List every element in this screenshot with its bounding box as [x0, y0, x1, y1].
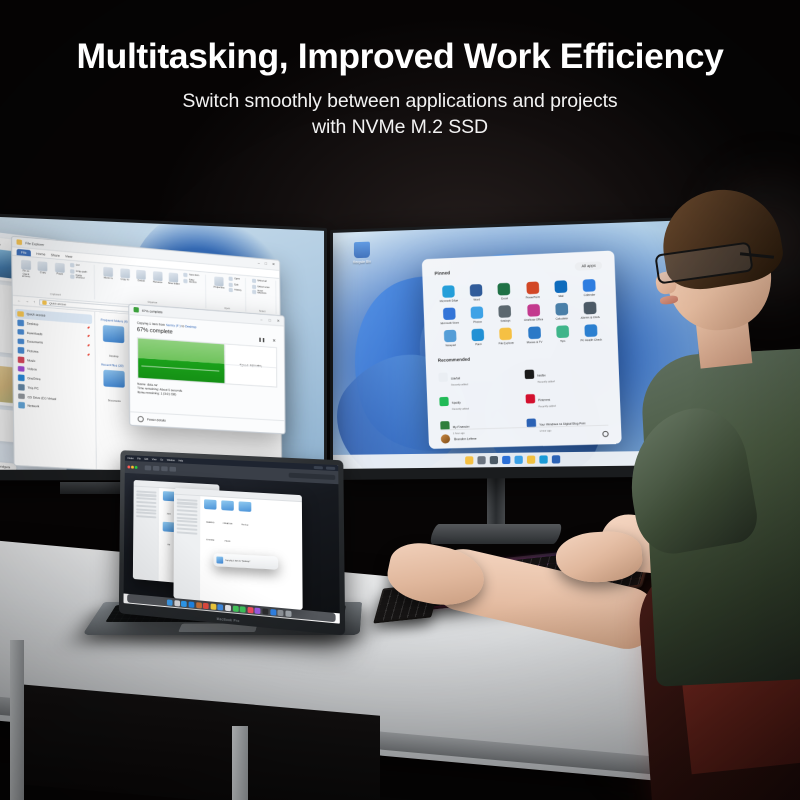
desktop-icon-recycle-bin[interactable]: Recycle Bin — [345, 241, 379, 264]
recommended-text: SpotifyRecently added — [451, 390, 469, 412]
finder-folder[interactable]: Backup — [238, 501, 253, 548]
recommended-text: PinterestRecently added — [538, 387, 556, 409]
recommended-title: Spotify — [452, 401, 461, 405]
macbook-screen: FinderFileEditViewGoWindowHelp — [123, 455, 339, 624]
task-view-icon[interactable] — [490, 456, 498, 464]
copy-destination: Desktop — [185, 324, 196, 329]
ribbon-button-properties[interactable]: Properties — [212, 275, 225, 290]
ribbon-group-label: Clipboard — [50, 294, 61, 297]
maximize-icon[interactable]: □ — [265, 262, 267, 266]
fewer-details-label: Fewer details — [147, 417, 166, 422]
app-icon — [444, 330, 457, 343]
recommended-subtitle: Recently added — [538, 406, 555, 409]
pinned-apps-grid: Microsoft EdgeWordExcelPowerPointMailCal… — [435, 277, 605, 350]
ribbon-small-icon — [229, 282, 233, 286]
sidebar-item-label: Music — [27, 358, 35, 363]
menu-file[interactable]: File — [137, 457, 141, 460]
ribbon-small-icon — [183, 273, 187, 277]
pinned-app-label: Word — [463, 298, 490, 302]
pinned-app-label: Microsoft Edge — [436, 299, 463, 303]
app-icon — [472, 329, 485, 342]
pinned-app-label: PC Health Check — [577, 339, 605, 343]
start-menu[interactable]: Pinned All apps Microsoft EdgeWordExcelP… — [422, 250, 622, 449]
monitor-right-neck — [487, 478, 505, 526]
explorer-tab-share[interactable]: Share — [51, 253, 60, 259]
ribbon-button-label: New folder — [167, 283, 180, 287]
view-icon[interactable] — [145, 465, 151, 470]
close-icon[interactable]: ✕ — [272, 263, 275, 267]
pin-icon[interactable]: 📌 — [87, 326, 91, 329]
calendar-icon[interactable] — [203, 602, 209, 608]
up-icon[interactable]: ↑ — [33, 300, 35, 304]
ribbon-menu-item-open[interactable]: Open — [229, 277, 242, 282]
safari-icon[interactable] — [181, 600, 187, 606]
copy-progress-bars — [138, 338, 225, 383]
pinned-app-label: Calculator — [548, 317, 575, 321]
recommended-icon — [438, 373, 448, 382]
finder-folder[interactable]: SHARED SYSTEM — [203, 499, 217, 546]
finder-folder[interactable]: CREATIVE FILES — [220, 500, 235, 547]
copy-speed-graph: Speed: 590 MB/s — [137, 337, 277, 387]
status-item[interactable] — [326, 466, 335, 469]
sidebar-item[interactable] — [136, 497, 156, 500]
ribbon-small-icon — [70, 274, 74, 279]
subtitle-line-1: Switch smoothly between applications and… — [182, 90, 617, 112]
recommended-item[interactable]: StarfallRecently added — [438, 364, 519, 388]
speed-trace-line — [142, 365, 220, 371]
app-icon — [556, 326, 569, 339]
pinned-app-microsoft-edge[interactable]: Microsoft Edge — [435, 283, 462, 305]
recommended-text: NetflixRecently added — [537, 363, 555, 385]
desk-leg-center — [232, 726, 248, 800]
pinned-app-label: Paint — [465, 343, 492, 347]
ribbon-button-move-to[interactable]: Move to — [101, 266, 115, 281]
contacts-icon[interactable] — [196, 602, 202, 608]
ribbon-button-rename[interactable]: Rename — [151, 270, 164, 285]
finder-icon[interactable] — [167, 599, 173, 605]
app-icon — [583, 279, 596, 292]
breadcrumb-text: Quick access — [49, 302, 66, 306]
person — [612, 196, 800, 800]
sidebar-item[interactable] — [177, 527, 198, 531]
ribbon-small-icon — [70, 263, 74, 268]
app-icon — [442, 285, 455, 298]
recommended-title: Netflix — [537, 374, 546, 378]
trash-icon[interactable] — [285, 610, 291, 617]
ribbon-group-open: PropertiesOpenEditHistoryOpen — [209, 275, 246, 312]
pinned-app-movies-tv[interactable]: Movies & TV — [520, 324, 548, 347]
folder-icon — [204, 499, 216, 509]
ribbon-group-select: Select allSelect noneInvert selectionSel… — [249, 278, 277, 314]
subtitle-line-2: with NVMe M.2 SSD — [312, 116, 488, 138]
ribbon-items: PropertiesOpenEditHistory — [212, 275, 241, 293]
ribbon-group-clipboard: Pin to Quick accessCopyPasteCutCopy path… — [16, 258, 96, 299]
pinned-app-photos[interactable]: Photos — [463, 304, 491, 326]
copy-dialog-controls[interactable]: ❚❚ ✕ — [258, 337, 276, 343]
pinned-app-label: Calendar — [576, 293, 604, 297]
sidebar-item-icon — [17, 329, 23, 335]
ribbon-menu-label: Easy access — [189, 279, 202, 284]
sidebar-item-label: Documents — [27, 340, 43, 345]
explorer-tab-view[interactable]: View — [65, 254, 72, 260]
sidebar-item[interactable] — [177, 531, 198, 535]
ribbon-menu-label: Copy path — [76, 270, 87, 273]
product-banner-scene: Multitasking, Improved Work Efficiency S… — [0, 0, 800, 800]
explorer-tab-home[interactable]: Home — [36, 252, 45, 258]
start-menu-pinned-header: Pinned All apps — [434, 261, 602, 277]
launchpad-icon[interactable] — [174, 600, 180, 606]
monitor-right-base — [429, 524, 563, 544]
folder-icon — [103, 370, 124, 388]
ribbon-menu-label: History — [234, 289, 241, 292]
ribbon-menu-label: Open — [234, 278, 240, 281]
ribbon-menu-label: Select all — [257, 280, 266, 283]
sidebar-item-label: This PC — [27, 385, 38, 390]
menu-window[interactable]: Window — [167, 458, 175, 461]
folder-icon — [103, 325, 124, 343]
file-explorer-icon[interactable] — [527, 456, 535, 464]
sidebar-item-icon — [17, 311, 23, 317]
recommended-icon — [525, 370, 535, 379]
app-icon — [470, 284, 483, 297]
menu-go[interactable]: Go — [160, 458, 163, 461]
sidebar-item[interactable] — [177, 509, 198, 512]
ribbon-menu-label: Paste shortcut — [76, 275, 91, 280]
ribbon-button-copy-to[interactable]: Copy to — [118, 267, 131, 282]
app-icon — [555, 303, 568, 316]
ribbon-menu-item-paste-shortcut[interactable]: Paste shortcut — [70, 274, 91, 280]
ribbon-button-label: Move to — [102, 277, 115, 281]
file-item[interactable]: Desktop — [101, 325, 127, 363]
folder-icon — [216, 556, 223, 563]
ribbon-button-pin-to-quick-access[interactable]: Pin to Quick access — [19, 258, 33, 279]
maximize-icon[interactable] — [135, 466, 137, 469]
folder-icon — [16, 239, 22, 245]
ribbon-menu-item-easy-access[interactable]: Easy access — [184, 278, 202, 284]
notes-icon[interactable] — [210, 603, 216, 609]
ribbon-small-icon — [229, 288, 233, 292]
ribbon-button-label: Pin to Quick access — [19, 270, 33, 280]
app-icon — [528, 327, 541, 340]
pinned-app-paint[interactable]: Paint — [464, 327, 492, 349]
macbook-pro: FinderFileEditViewGoWindowHelp — [104, 452, 362, 664]
ribbon-menu-label: Cut — [76, 264, 80, 266]
user-name: Brandon Lefeve — [454, 436, 477, 441]
ribbon-small-items: New itemEasy access — [183, 273, 202, 284]
sidebar-item[interactable] — [136, 504, 156, 507]
pin-icon[interactable]: 📌 — [87, 354, 91, 357]
app-icon — [526, 282, 539, 295]
folder-name: 2021 — [167, 513, 171, 515]
copy-dialog-window-controls[interactable]: – □ ✕ — [260, 317, 279, 323]
ribbon-button-label: Rename — [151, 281, 164, 285]
ribbon-group-label: Organize — [148, 302, 158, 305]
ribbon-small-icon — [229, 277, 233, 281]
chat-icon[interactable] — [515, 456, 523, 464]
pin-icon[interactable]: 📌 — [87, 335, 91, 338]
ribbon-group-label: Open — [224, 308, 230, 311]
pinned-app-calculator[interactable]: Calculator — [548, 301, 576, 324]
minimize-icon[interactable] — [131, 466, 133, 469]
avatar — [441, 434, 451, 443]
copy-prefix: Copying 1 item from — [137, 321, 166, 327]
ribbon-button-label: Properties — [212, 286, 225, 290]
copy-icon — [134, 307, 139, 313]
pinned-app-label: Settings — [492, 319, 519, 323]
finder-window-front[interactable]: SHARED SYSTEMCREATIVE FILESBackup — [174, 488, 303, 610]
ribbon-button-delete[interactable]: Delete — [135, 268, 148, 283]
edge-icon[interactable] — [539, 455, 547, 463]
headline-block: Multitasking, Improved Work Efficiency S… — [0, 38, 800, 140]
ribbon-menu-item-invert-selection[interactable]: Invert selection — [252, 290, 273, 296]
minimize-icon[interactable]: – — [260, 317, 262, 321]
desk-leg-left — [10, 640, 24, 800]
ribbon-menu-item-edit[interactable]: Edit — [229, 282, 242, 287]
ribbon-small-icon — [252, 290, 256, 294]
copy-source: Sentry (F:) — [166, 323, 181, 328]
ribbon-menu-label: New item — [189, 274, 199, 277]
sidebar-item[interactable] — [177, 524, 198, 528]
pinned-app-onenote-office[interactable]: OneNote Office — [519, 302, 547, 325]
traffic-light-buttons[interactable] — [127, 466, 137, 469]
folder-icon — [221, 500, 234, 511]
app-icon — [499, 305, 512, 318]
pinned-app-mail[interactable]: Mail — [547, 278, 575, 301]
status-item[interactable] — [314, 465, 323, 468]
copy-dialog-body: Copying 1 item from Sentry (F:) to Deskt… — [129, 315, 284, 409]
share-icon[interactable] — [161, 466, 167, 471]
copy-progress-text: Copying 1 item to “Desktop” — [225, 559, 275, 564]
ribbon-menu-label: Select none — [257, 286, 269, 289]
file-item[interactable]: Documents — [101, 370, 127, 408]
ribbon-button-copy[interactable]: Copy — [36, 260, 50, 276]
folder-name: SHARED SYSTEM — [206, 522, 214, 542]
ribbon-items: Select allSelect noneInvert selection — [252, 279, 273, 296]
chevron-up-icon — [138, 416, 144, 423]
recommended-subtitle: Recently added — [452, 408, 469, 411]
ribbon-button-new-folder[interactable]: New folder — [167, 271, 180, 286]
recommended-text: StarfallRecently added — [450, 366, 468, 388]
file-name: Desktop — [109, 355, 118, 359]
minimize-icon[interactable]: – — [258, 262, 260, 266]
explorer-sidebar[interactable]: Quick accessDesktop📌Downloads📌Documents📌… — [13, 305, 97, 470]
sidebar-item-icon — [18, 393, 24, 399]
folder-name: Backup — [242, 524, 249, 526]
recommended-title: Pinterest — [538, 398, 550, 402]
macbook-lid: FinderFileEditViewGoWindowHelp — [119, 450, 345, 635]
store-icon[interactable] — [552, 455, 560, 463]
sidebar-item[interactable] — [177, 513, 198, 516]
ribbon-small-icon — [252, 279, 256, 283]
explorer-tab-file[interactable]: File — [17, 249, 31, 257]
appstore-icon[interactable] — [270, 608, 276, 615]
tv-icon[interactable] — [262, 608, 268, 615]
app-icon — [498, 283, 511, 296]
pinned-app-excel[interactable]: Excel — [490, 280, 518, 303]
ribbon-button-label: Delete — [135, 280, 148, 284]
menu-help[interactable]: Help — [178, 459, 183, 462]
sidebar-item-icon — [18, 375, 24, 381]
recommended-item[interactable]: NetflixRecently added — [524, 361, 606, 385]
copy-speed-panel: Speed: 590 MB/s — [224, 344, 276, 386]
ribbon-menu-item-new-item[interactable]: New item — [183, 273, 201, 279]
widget-edge-title: Microsoft Edge — [0, 239, 1, 246]
sidebar-item-icon — [18, 338, 24, 344]
app-icon — [443, 308, 456, 321]
recommended-item[interactable]: SpotifyRecently added — [439, 389, 520, 413]
app-icon — [583, 302, 596, 315]
sidebar-item-label: Videos — [27, 367, 37, 372]
toolbar-buttons[interactable] — [145, 465, 176, 471]
maximize-icon[interactable]: □ — [269, 318, 271, 322]
sidebar-item-icon — [17, 320, 23, 326]
photos-icon[interactable] — [225, 604, 231, 611]
page-title: Multitasking, Improved Work Efficiency — [0, 38, 800, 75]
sidebar-item-label: OneDrive — [27, 376, 40, 381]
finder-folder-grid-front: SHARED SYSTEMCREATIVE FILESBackup — [203, 499, 299, 552]
monitor-left-bezel: Microsoft Edge Santa Ward Calendar Overd… — [0, 212, 327, 480]
menu-finder[interactable]: Finder — [128, 457, 134, 460]
pinned-app-powerpoint[interactable]: PowerPoint — [518, 279, 546, 302]
app-icon — [527, 304, 540, 317]
recommended-subtitle: Recently added — [451, 384, 468, 387]
ribbon-button-label: Copy to — [118, 278, 131, 282]
sidebar-item-icon — [18, 356, 24, 362]
widgets-icon[interactable] — [502, 456, 510, 464]
app-icon — [554, 280, 567, 293]
tag-icon[interactable] — [169, 467, 176, 472]
back-icon[interactable]: ← — [17, 298, 21, 303]
sidebar-item-label: Network — [28, 404, 40, 409]
menu-view[interactable]: View — [152, 458, 157, 461]
app-icon — [500, 328, 513, 341]
breadcrumb-folder-icon — [43, 300, 47, 305]
forward-icon[interactable]: → — [25, 299, 29, 304]
pinned-app-label: Mail — [547, 294, 574, 298]
page-subtitle: Switch smoothly between applications and… — [0, 89, 800, 140]
app-icon — [584, 324, 597, 337]
ribbon-group-organize: Move toCopy toDeleteRenameNew folderNew … — [98, 265, 206, 308]
pinned-app-tips[interactable]: Tips — [548, 323, 576, 346]
copy-dialog-title: 67% complete — [142, 308, 163, 314]
mail-icon[interactable] — [189, 601, 195, 607]
monitor-left-screen: Microsoft Edge Santa Ward Calendar Overd… — [0, 216, 324, 470]
ribbon-small-items: Select allSelect noneInvert selection — [252, 279, 273, 296]
copy-progress-dialog[interactable]: 67% complete – □ ✕ Copying 1 item from S… — [128, 303, 285, 434]
ribbon-small-icon — [184, 278, 188, 282]
pinned-app-label: OneNote Office — [520, 318, 547, 322]
file-name: Documents — [108, 399, 121, 403]
sidebar-item-label: Quick access — [27, 312, 46, 318]
ribbon-button-label: Paste — [53, 273, 67, 277]
macos-copy-title: Copying 1 item to “Desktop” — [225, 559, 275, 564]
facetime-icon[interactable] — [240, 606, 246, 613]
reminders-icon[interactable] — [218, 604, 224, 610]
start-icon[interactable] — [465, 456, 473, 464]
pinned-app-alarms-clock[interactable]: Alarms & Clock — [576, 299, 604, 322]
app-icon — [471, 306, 484, 319]
all-apps-button[interactable]: All apps — [575, 261, 602, 270]
finder-sidebar[interactable] — [133, 487, 159, 582]
pinned-app-file-explorer[interactable]: File Explorer — [492, 325, 520, 347]
pinned-app-microsoft-store[interactable]: Microsoft Store — [436, 305, 464, 327]
pinned-app-notepad[interactable]: Notepad — [437, 328, 465, 350]
pinned-app-label: Notepad — [437, 344, 464, 348]
folder-icon — [239, 501, 252, 512]
search-input[interactable] — [289, 473, 336, 480]
music-icon[interactable] — [247, 606, 253, 613]
sidebar-item-label: Pictures — [27, 349, 38, 354]
monitor-left: Microsoft Edge Santa Ward Calendar Overd… — [0, 212, 327, 480]
ribbon-small-icon — [252, 284, 256, 288]
menu-bar-status-items[interactable] — [314, 465, 335, 469]
ribbon-small-icon — [70, 269, 74, 274]
pinned-app-label: Tips — [549, 340, 576, 344]
explorer-window-title: File Explorer — [25, 241, 44, 247]
close-icon[interactable] — [127, 466, 129, 469]
pin-icon[interactable]: 📌 — [87, 345, 91, 348]
pinned-app-pc-health-check[interactable]: PC Health Check — [577, 322, 605, 345]
ribbon-menu-label: Invert selection — [257, 290, 272, 295]
sidebar-item[interactable] — [136, 515, 156, 518]
sidebar-item-icon — [18, 347, 24, 353]
pinned-app-label: File Explorer — [493, 342, 520, 346]
system-settings-icon[interactable] — [278, 609, 284, 616]
pinned-app-label: Alarms & Clock — [577, 316, 605, 320]
recommended-icon — [526, 394, 536, 403]
recommended-title: Starfall — [451, 376, 460, 380]
pinned-app-word[interactable]: Word — [463, 282, 491, 305]
pinned-app-settings[interactable]: Settings — [491, 303, 519, 326]
ribbon-small-items: CutCopy pathPaste shortcut — [70, 263, 91, 280]
ribbon-small-items: OpenEditHistory — [229, 277, 242, 293]
folder-name: CREATIVE FILES — [223, 523, 233, 543]
close-icon[interactable]: ✕ — [277, 318, 280, 322]
sidebar-item-icon — [18, 402, 24, 408]
sidebar-item-label: Desktop — [27, 321, 39, 326]
search-icon[interactable] — [477, 456, 485, 464]
pause-icon[interactable]: ❚❚ — [258, 337, 265, 343]
group-icon[interactable] — [153, 466, 159, 471]
pinned-app-label: Movies & TV — [521, 341, 548, 345]
sidebar-item-label: CD Drive (D:) Virtual — [27, 395, 56, 401]
pinned-app-label: Excel — [491, 297, 518, 301]
messages-icon[interactable] — [232, 605, 238, 612]
recycle-bin-icon — [354, 242, 370, 259]
pinned-app-label: Microsoft Store — [436, 321, 463, 325]
ribbon-menu-label: Edit — [234, 284, 238, 286]
pinned-app-calendar[interactable]: Calendar — [575, 277, 603, 300]
recommended-item[interactable]: PinterestRecently added — [525, 386, 607, 410]
ribbon-menu-item-history[interactable]: History — [229, 288, 242, 293]
explorer-window-controls[interactable]: – □ ✕ — [258, 262, 275, 267]
pinned-app-label: PowerPoint — [519, 296, 546, 300]
recommended-subtitle: Recently added — [538, 381, 555, 385]
ribbon-items: Pin to Quick accessCopyPasteCutCopy path… — [19, 258, 91, 284]
sidebar-item[interactable] — [136, 501, 156, 504]
finder-sidebar[interactable] — [174, 495, 201, 601]
podcasts-icon[interactable] — [255, 607, 261, 614]
menu-edit[interactable]: Edit — [144, 457, 148, 460]
ribbon-button-paste[interactable]: Paste — [53, 261, 67, 276]
recommended-icon — [439, 397, 449, 406]
folder-name: Old — [167, 544, 170, 546]
cancel-icon[interactable]: ✕ — [272, 338, 276, 343]
sidebar-item-icon — [18, 384, 24, 390]
ribbon-button-label: Copy — [36, 272, 50, 276]
sidebar-item-icon — [18, 366, 24, 372]
pinned-app-label: Photos — [464, 320, 491, 324]
